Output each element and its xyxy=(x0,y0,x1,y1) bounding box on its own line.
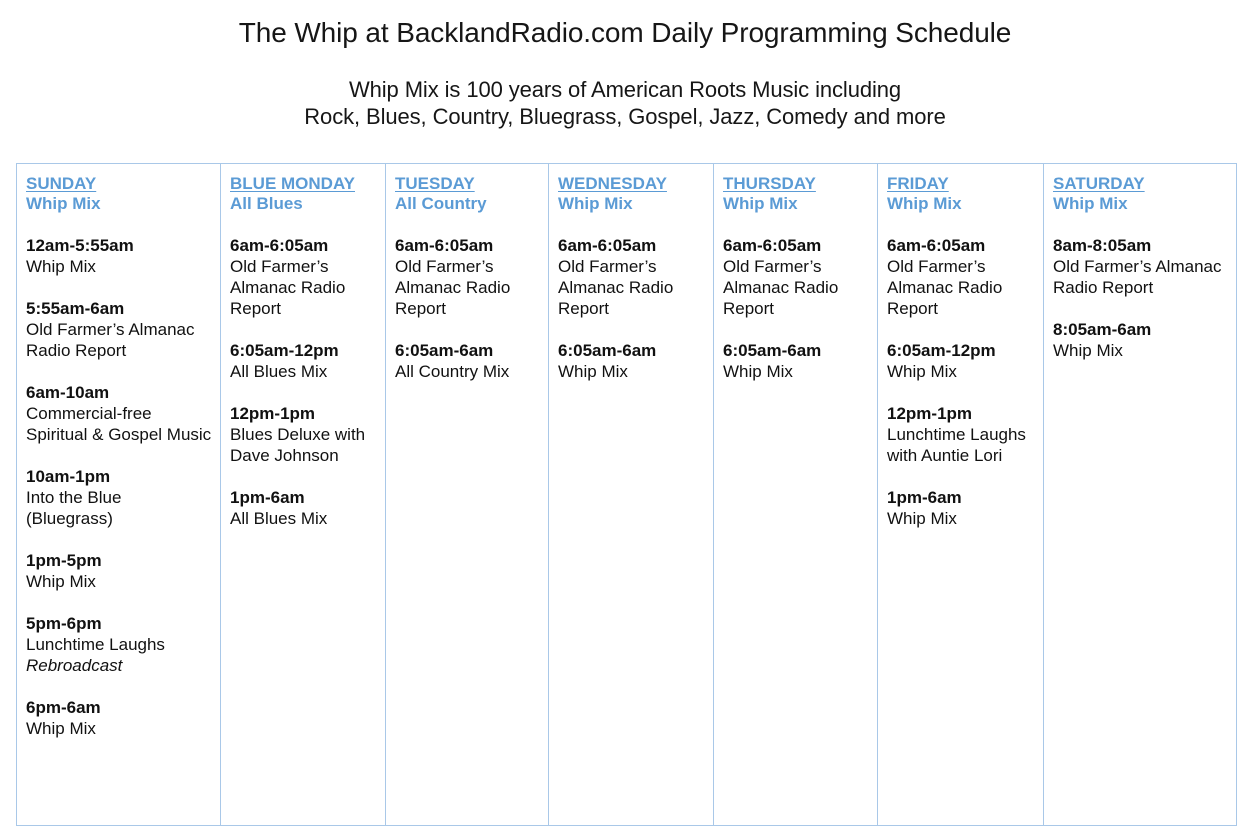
slot-time: 1pm-6am xyxy=(230,487,377,508)
page-subtitle: Whip Mix is 100 years of American Roots … xyxy=(0,50,1250,130)
schedule-slot: 6am-6:05amOld Farmer’s Almanac Radio Rep… xyxy=(395,235,540,319)
schedule-slot: 6am-10amCommercial-free Spiritual & Gosp… xyxy=(26,382,212,445)
page-subtitle-line-1: Whip Mix is 100 years of American Roots … xyxy=(40,76,1210,103)
slot-show: Old Farmer’s Almanac Radio Report xyxy=(887,256,1035,319)
day-format-sunday: Whip Mix xyxy=(26,193,212,214)
slot-note: Rebroadcast xyxy=(26,655,212,676)
slot-show: Into the Blue (Bluegrass) xyxy=(26,487,212,529)
schedule-slot: 12pm-1pmLunchtime Laughs with Auntie Lor… xyxy=(887,403,1035,466)
day-header-tuesday: TUESDAYAll Country xyxy=(395,173,540,214)
slot-time: 6am-10am xyxy=(26,382,212,403)
slot-show: Whip Mix xyxy=(26,718,212,739)
slot-time: 12am-5:55am xyxy=(26,235,212,256)
slot-time: 5pm-6pm xyxy=(26,613,212,634)
schedule-slot: 8am-8:05amOld Farmer’s Almanac Radio Rep… xyxy=(1053,235,1228,298)
slot-time: 6am-6:05am xyxy=(558,235,705,256)
slot-show: Whip Mix xyxy=(558,361,705,382)
slot-show: Whip Mix xyxy=(26,256,212,277)
slot-show: Old Farmer’s Almanac Radio Report xyxy=(395,256,540,319)
slot-show: Old Farmer’s Almanac Radio Report xyxy=(558,256,705,319)
day-name-saturday: SATURDAY xyxy=(1053,173,1145,194)
day-header-saturday: SATURDAYWhip Mix xyxy=(1053,173,1228,214)
slot-time: 6am-6:05am xyxy=(723,235,869,256)
day-name-sunday: SUNDAY xyxy=(26,173,96,194)
slot-time: 8am-8:05am xyxy=(1053,235,1228,256)
slot-time: 6am-6:05am xyxy=(395,235,540,256)
slot-show: All Country Mix xyxy=(395,361,540,382)
schedule-slot: 6pm-6amWhip Mix xyxy=(26,697,212,739)
slot-time: 6am-6:05am xyxy=(887,235,1035,256)
day-format-thursday: Whip Mix xyxy=(723,193,869,214)
slot-show: Whip Mix xyxy=(26,571,212,592)
page-subtitle-line-2: Rock, Blues, Country, Bluegrass, Gospel,… xyxy=(40,103,1210,130)
day-format-monday: All Blues xyxy=(230,193,377,214)
day-header-thursday: THURSDAYWhip Mix xyxy=(723,173,869,214)
day-format-friday: Whip Mix xyxy=(887,193,1035,214)
slot-time: 1pm-6am xyxy=(887,487,1035,508)
slot-time: 5:55am-6am xyxy=(26,298,212,319)
slot-show: Lunchtime Laughs with Auntie Lori xyxy=(887,424,1035,466)
slot-show: Whip Mix xyxy=(723,361,869,382)
day-name-friday: FRIDAY xyxy=(887,173,949,194)
slot-show: Old Farmer’s Almanac Radio Report xyxy=(1053,256,1228,298)
slot-show: Lunchtime Laughs xyxy=(26,634,212,655)
day-format-wednesday: Whip Mix xyxy=(558,193,705,214)
slot-time: 6am-6:05am xyxy=(230,235,377,256)
day-name-monday: BLUE MONDAY xyxy=(230,173,355,194)
day-format-tuesday: All Country xyxy=(395,193,540,214)
day-name-tuesday: TUESDAY xyxy=(395,173,475,194)
slot-time: 6:05am-6am xyxy=(558,340,705,361)
slot-time: 6pm-6am xyxy=(26,697,212,718)
schedule-slot: 6am-6:05amOld Farmer’s Almanac Radio Rep… xyxy=(230,235,377,319)
slot-show: Blues Deluxe with Dave Johnson xyxy=(230,424,377,466)
slot-time: 10am-1pm xyxy=(26,466,212,487)
day-name-thursday: THURSDAY xyxy=(723,173,816,194)
schedule-slot: 6:05am-6amWhip Mix xyxy=(723,340,869,382)
day-name-wednesday: WEDNESDAY xyxy=(558,173,667,194)
day-header-monday: BLUE MONDAYAll Blues xyxy=(230,173,377,214)
schedule-slot: 1pm-6amWhip Mix xyxy=(887,487,1035,529)
schedule-column-monday: BLUE MONDAYAll Blues6am-6:05amOld Farmer… xyxy=(221,164,386,826)
slot-time: 6:05am-6am xyxy=(723,340,869,361)
schedule-slot: 5pm-6pmLunchtime LaughsRebroadcast xyxy=(26,613,212,676)
slot-show: All Blues Mix xyxy=(230,361,377,382)
slot-time: 8:05am-6am xyxy=(1053,319,1228,340)
slot-time: 6:05am-12pm xyxy=(230,340,377,361)
schedule-column-thursday: THURSDAYWhip Mix6am-6:05amOld Farmer’s A… xyxy=(714,164,878,826)
slot-show: Old Farmer’s Almanac Radio Report xyxy=(26,319,212,361)
schedule-table: SUNDAYWhip Mix12am-5:55amWhip Mix5:55am-… xyxy=(16,163,1237,826)
page-title: The Whip at BacklandRadio.com Daily Prog… xyxy=(0,0,1250,50)
schedule-slot: 1pm-6amAll Blues Mix xyxy=(230,487,377,529)
schedule-slot: 1pm-5pmWhip Mix xyxy=(26,550,212,592)
day-format-saturday: Whip Mix xyxy=(1053,193,1228,214)
schedule-table-container: SUNDAYWhip Mix12am-5:55amWhip Mix5:55am-… xyxy=(16,163,1236,826)
schedule-slot: 6:05am-12pmAll Blues Mix xyxy=(230,340,377,382)
schedule-column-friday: FRIDAYWhip Mix6am-6:05amOld Farmer’s Alm… xyxy=(878,164,1044,826)
schedule-slot: 6:05am-6amWhip Mix xyxy=(558,340,705,382)
schedule-slot: 6am-6:05amOld Farmer’s Almanac Radio Rep… xyxy=(558,235,705,319)
schedule-column-sunday: SUNDAYWhip Mix12am-5:55amWhip Mix5:55am-… xyxy=(17,164,221,826)
day-header-wednesday: WEDNESDAYWhip Mix xyxy=(558,173,705,214)
schedule-slot: 6:05am-6amAll Country Mix xyxy=(395,340,540,382)
day-header-friday: FRIDAYWhip Mix xyxy=(887,173,1035,214)
slot-time: 12pm-1pm xyxy=(887,403,1035,424)
slot-show: Whip Mix xyxy=(1053,340,1228,361)
slot-time: 6:05am-6am xyxy=(395,340,540,361)
slot-show: Old Farmer’s Almanac Radio Report xyxy=(230,256,377,319)
schedule-slot: 12am-5:55amWhip Mix xyxy=(26,235,212,277)
schedule-slot: 8:05am-6amWhip Mix xyxy=(1053,319,1228,361)
slot-show: Commercial-free Spiritual & Gospel Music xyxy=(26,403,212,445)
schedule-row: SUNDAYWhip Mix12am-5:55amWhip Mix5:55am-… xyxy=(17,164,1237,826)
slot-time: 12pm-1pm xyxy=(230,403,377,424)
slot-time: 6:05am-12pm xyxy=(887,340,1035,361)
schedule-slot: 6am-6:05amOld Farmer’s Almanac Radio Rep… xyxy=(887,235,1035,319)
schedule-slot: 5:55am-6amOld Farmer’s Almanac Radio Rep… xyxy=(26,298,212,361)
day-header-sunday: SUNDAYWhip Mix xyxy=(26,173,212,214)
schedule-slot: 6am-6:05amOld Farmer’s Almanac Radio Rep… xyxy=(723,235,869,319)
slot-time: 1pm-5pm xyxy=(26,550,212,571)
schedule-column-wednesday: WEDNESDAYWhip Mix6am-6:05amOld Farmer’s … xyxy=(549,164,714,826)
schedule-column-tuesday: TUESDAYAll Country6am-6:05amOld Farmer’s… xyxy=(386,164,549,826)
slot-show: Old Farmer’s Almanac Radio Report xyxy=(723,256,869,319)
schedule-column-saturday: SATURDAYWhip Mix8am-8:05amOld Farmer’s A… xyxy=(1044,164,1237,826)
slot-show: All Blues Mix xyxy=(230,508,377,529)
schedule-slot: 10am-1pmInto the Blue (Bluegrass) xyxy=(26,466,212,529)
schedule-slot: 12pm-1pmBlues Deluxe with Dave Johnson xyxy=(230,403,377,466)
slot-show: Whip Mix xyxy=(887,508,1035,529)
schedule-slot: 6:05am-12pmWhip Mix xyxy=(887,340,1035,382)
slot-show: Whip Mix xyxy=(887,361,1035,382)
